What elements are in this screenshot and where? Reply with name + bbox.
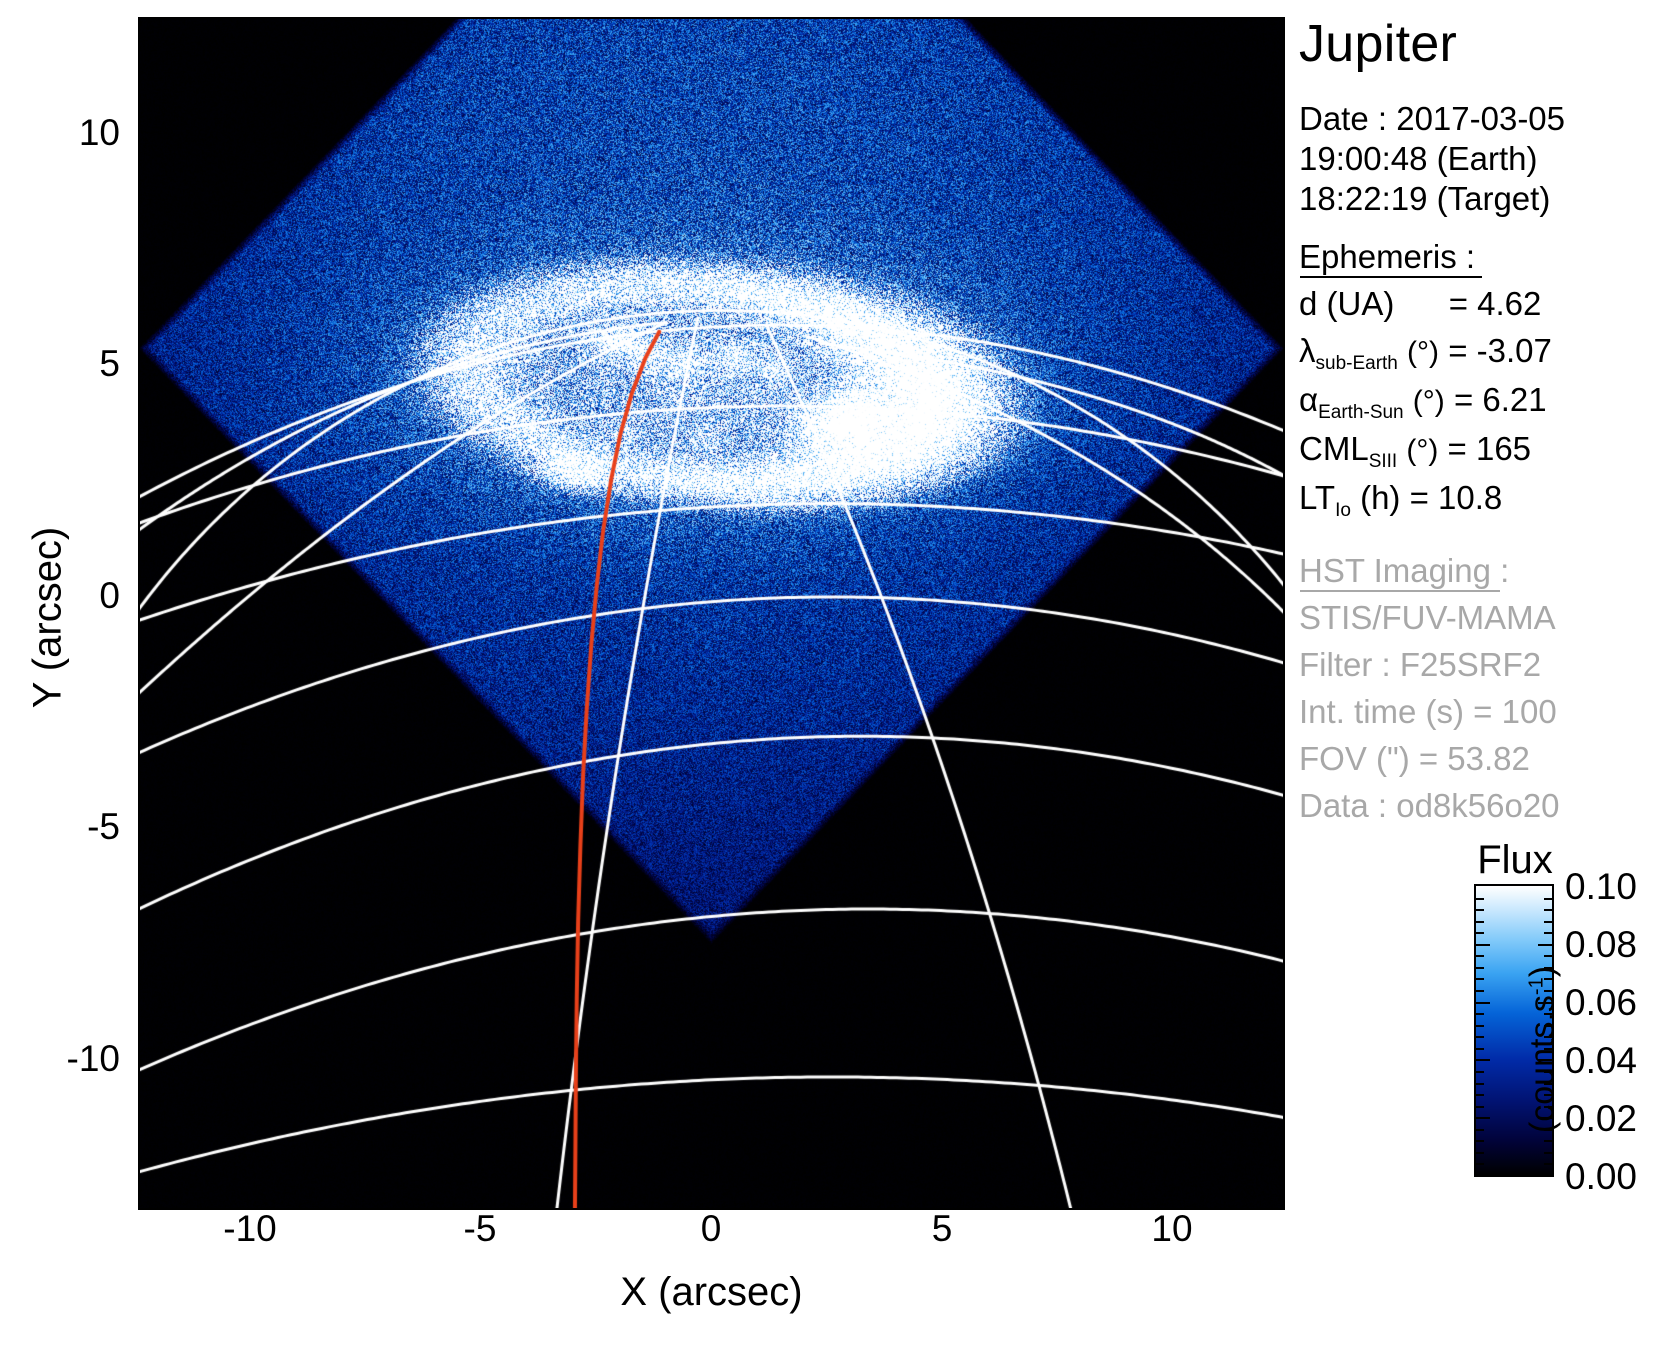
colorbar-tick-004: 0.04 xyxy=(1565,1040,1637,1082)
colorbar-minor-tick xyxy=(1476,1025,1484,1027)
x-tick-label-0: 0 xyxy=(661,1208,761,1250)
colorbar-minor-tick xyxy=(1538,1002,1552,1004)
colorbar-tick-008: 0.08 xyxy=(1565,924,1637,966)
colorbar-minor-tick xyxy=(1544,1083,1552,1085)
colorbar-minor-tick xyxy=(1538,1117,1552,1119)
page-title: Jupiter xyxy=(1299,14,1457,74)
ephemeris-value-d: = 4.62 xyxy=(1449,285,1542,322)
ephemeris-unit-lt: (h) xyxy=(1360,479,1400,516)
colorbar-tick-002: 0.02 xyxy=(1565,1098,1637,1140)
ephemeris-heading: Ephemeris : xyxy=(1299,238,1475,276)
colorbar-minor-tick xyxy=(1476,1106,1484,1108)
ephemeris-unit-lambda: (°) xyxy=(1407,336,1439,369)
ephemeris-row-lambda: λsub-Earth (°) = -3.07 xyxy=(1299,332,1552,370)
ephemeris-label-alpha: α xyxy=(1299,381,1318,418)
ephemeris-unit-alpha: (°) xyxy=(1413,385,1445,418)
colorbar-tick-000: 0.00 xyxy=(1565,1156,1637,1198)
colorbar-minor-tick xyxy=(1476,1059,1490,1061)
colorbar-minor-tick xyxy=(1544,898,1552,900)
colorbar-minor-tick xyxy=(1476,932,1484,934)
colorbar-minor-tick xyxy=(1538,944,1552,946)
colorbar-minor-tick xyxy=(1544,1071,1552,1073)
ephemeris-row-cml: CMLSIII (°) = 165 xyxy=(1299,430,1531,468)
colorbar-minor-tick xyxy=(1544,955,1552,957)
colorbar-minor-tick xyxy=(1544,967,1552,969)
colorbar-minor-tick xyxy=(1544,990,1552,992)
ephemeris-sub-cml: SIII xyxy=(1369,451,1398,472)
colorbar-minor-tick xyxy=(1476,944,1490,946)
colorbar-minor-tick xyxy=(1476,1013,1484,1015)
colorbar-minor-tick xyxy=(1476,1094,1484,1096)
x-axis-label: X (arcsec) xyxy=(138,1270,1285,1315)
ephemeris-sub-lambda: sub-Earth xyxy=(1316,353,1398,374)
ephemeris-rule xyxy=(1300,276,1482,278)
aurora-image-plot xyxy=(138,17,1285,1210)
x-tick-label-m5: -5 xyxy=(430,1208,530,1250)
colorbar-minor-tick xyxy=(1476,909,1484,911)
instrument-fov: FOV (") = 53.82 xyxy=(1299,740,1530,778)
ephemeris-row-alpha: αEarth-Sun (°) = 6.21 xyxy=(1299,381,1547,419)
colorbar-minor-tick xyxy=(1544,921,1552,923)
ephemeris-label-lambda: λ xyxy=(1299,332,1316,369)
colorbar-tick-010: 0.10 xyxy=(1565,866,1637,908)
y-tick-label-5: 5 xyxy=(40,343,120,385)
colorbar-minor-tick xyxy=(1476,921,1484,923)
instrument-filter: Filter : F25SRF2 xyxy=(1299,646,1541,684)
observation-date: Date : 2017-03-05 xyxy=(1299,100,1565,138)
y-tick-label-m5: -5 xyxy=(40,806,120,848)
colorbar-tick-006: 0.06 xyxy=(1565,982,1637,1024)
colorbar-minor-tick xyxy=(1544,1036,1552,1038)
y-tick-label-10: 10 xyxy=(40,112,120,154)
colorbar-minor-tick xyxy=(1538,1059,1552,1061)
colorbar-minor-tick xyxy=(1476,955,1484,957)
colorbar-minor-tick xyxy=(1476,967,1484,969)
x-tick-label-10: 10 xyxy=(1122,1208,1222,1250)
colorbar-minor-tick xyxy=(1544,932,1552,934)
colorbar-minor-tick xyxy=(1544,1013,1552,1015)
planet-grid-overlay xyxy=(138,17,1285,1210)
colorbar-minor-tick xyxy=(1544,978,1552,980)
instrument-heading: HST Imaging : xyxy=(1299,552,1509,590)
colorbar-title: Flux xyxy=(1477,838,1553,883)
instrument-data-id: Data : od8k56o20 xyxy=(1299,787,1560,825)
colorbar-minor-tick xyxy=(1476,898,1484,900)
colorbar-minor-tick xyxy=(1544,1152,1552,1154)
ephemeris-label-cml: CML xyxy=(1299,430,1369,467)
colorbar-minor-tick xyxy=(1476,1129,1484,1131)
ephemeris-value-lambda: = -3.07 xyxy=(1448,332,1552,369)
colorbar-minor-tick xyxy=(1544,1106,1552,1108)
colorbar-minor-tick xyxy=(1544,1129,1552,1131)
colorbar-minor-tick xyxy=(1476,1152,1484,1154)
instrument-detector: STIS/FUV-MAMA xyxy=(1299,599,1556,637)
instrument-int-time: Int. time (s) = 100 xyxy=(1299,693,1557,731)
colorbar-minor-tick xyxy=(1476,1083,1484,1085)
observation-time-target: 18:22:19 (Target) xyxy=(1299,180,1550,218)
colorbar-minor-tick xyxy=(1476,1163,1484,1165)
colorbar-minor-tick xyxy=(1544,1163,1552,1165)
colorbar-minor-tick xyxy=(1544,1140,1552,1142)
x-tick-label-m10: -10 xyxy=(200,1208,300,1250)
colorbar-minor-tick xyxy=(1476,1048,1484,1050)
colorbar-minor-tick xyxy=(1544,1025,1552,1027)
colorbar-units-text: (counts.s xyxy=(1524,995,1562,1133)
ephemeris-value-alpha: = 6.21 xyxy=(1454,381,1547,418)
colorbar-minor-tick xyxy=(1476,1140,1484,1142)
colorbar-minor-tick xyxy=(1476,1036,1484,1038)
colorbar-units-paren: ) xyxy=(1524,966,1562,977)
ephemeris-label-lt: LT xyxy=(1299,479,1335,516)
colorbar-minor-tick xyxy=(1544,909,1552,911)
ephemeris-value-lt: = 10.8 xyxy=(1410,479,1503,516)
colorbar-minor-tick xyxy=(1544,1048,1552,1050)
colorbar-minor-tick xyxy=(1476,1071,1484,1073)
y-tick-label-m10: -10 xyxy=(40,1038,120,1080)
y-axis-label: Y (arcsec) xyxy=(26,448,71,788)
ephemeris-value-cml: = 165 xyxy=(1448,430,1532,467)
colorbar-minor-tick xyxy=(1476,1002,1490,1004)
ephemeris-row-lt: LTIo (h) = 10.8 xyxy=(1299,479,1502,517)
observation-time-earth: 19:00:48 (Earth) xyxy=(1299,140,1537,178)
colorbar-minor-tick xyxy=(1476,1117,1490,1119)
x-tick-label-5: 5 xyxy=(892,1208,992,1250)
ephemeris-label-d: d (UA) xyxy=(1299,285,1394,322)
ephemeris-sub-alpha: Earth-Sun xyxy=(1318,402,1404,423)
colorbar-minor-tick xyxy=(1544,1094,1552,1096)
instrument-rule xyxy=(1300,590,1500,592)
colorbar-minor-tick xyxy=(1476,990,1484,992)
colorbar-minor-tick xyxy=(1476,978,1484,980)
ephemeris-unit-cml: (°) xyxy=(1406,434,1438,467)
ephemeris-sub-lt: Io xyxy=(1335,500,1351,521)
ephemeris-row-d: d (UA) = 4.62 xyxy=(1299,285,1541,323)
